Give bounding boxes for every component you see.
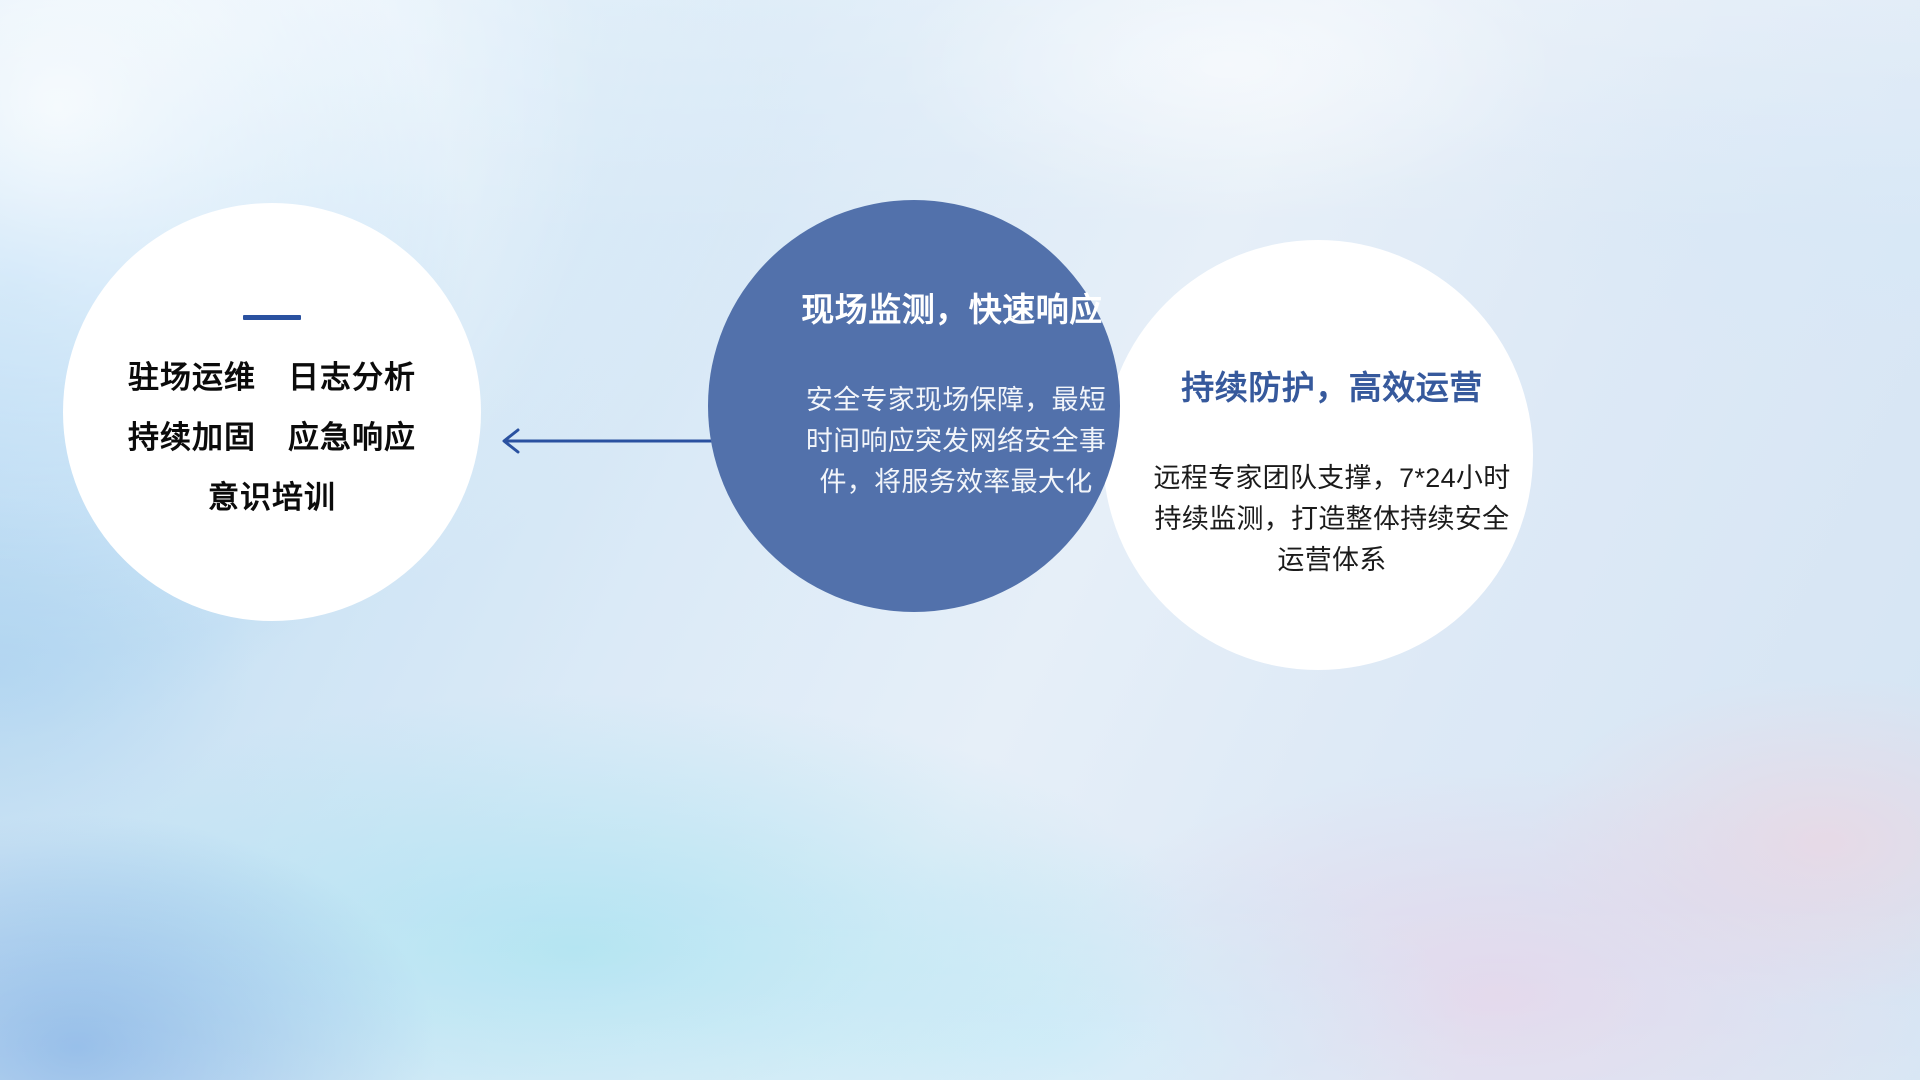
capability-line-2: 持续加固 应急响应: [128, 422, 416, 453]
accent-rule-divider: [243, 315, 301, 320]
capability-line-1: 驻场运维 日志分析: [128, 362, 416, 393]
feature-circle-middle: 现场监测，快速响应 安全专家现场保障，最短时间响应突发网络安全事件，将服务效率最…: [708, 200, 1120, 612]
middle-circle-heading: 现场监测，快速响应: [801, 292, 1103, 328]
arrow-left-icon: [488, 418, 712, 464]
slide-canvas: 驻场运维 日志分析 持续加固 应急响应 意识培训 持续防护，高效运营 远程专家团…: [0, 0, 1920, 1080]
capability-circle-left: 驻场运维 日志分析 持续加固 应急响应 意识培训: [63, 203, 481, 621]
middle-circle-body: 安全专家现场保障，最短时间响应突发网络安全事件，将服务效率最大化: [798, 380, 1114, 503]
feature-circle-right: 持续防护，高效运营 远程专家团队支撑，7*24小时持续监测，打造整体持续安全运营…: [1103, 240, 1533, 670]
right-circle-body: 远程专家团队支撑，7*24小时持续监测，打造整体持续安全运营体系: [1149, 458, 1515, 581]
right-circle-heading: 持续防护，高效运营: [1181, 370, 1483, 406]
capability-line-3: 意识培训: [208, 482, 336, 513]
